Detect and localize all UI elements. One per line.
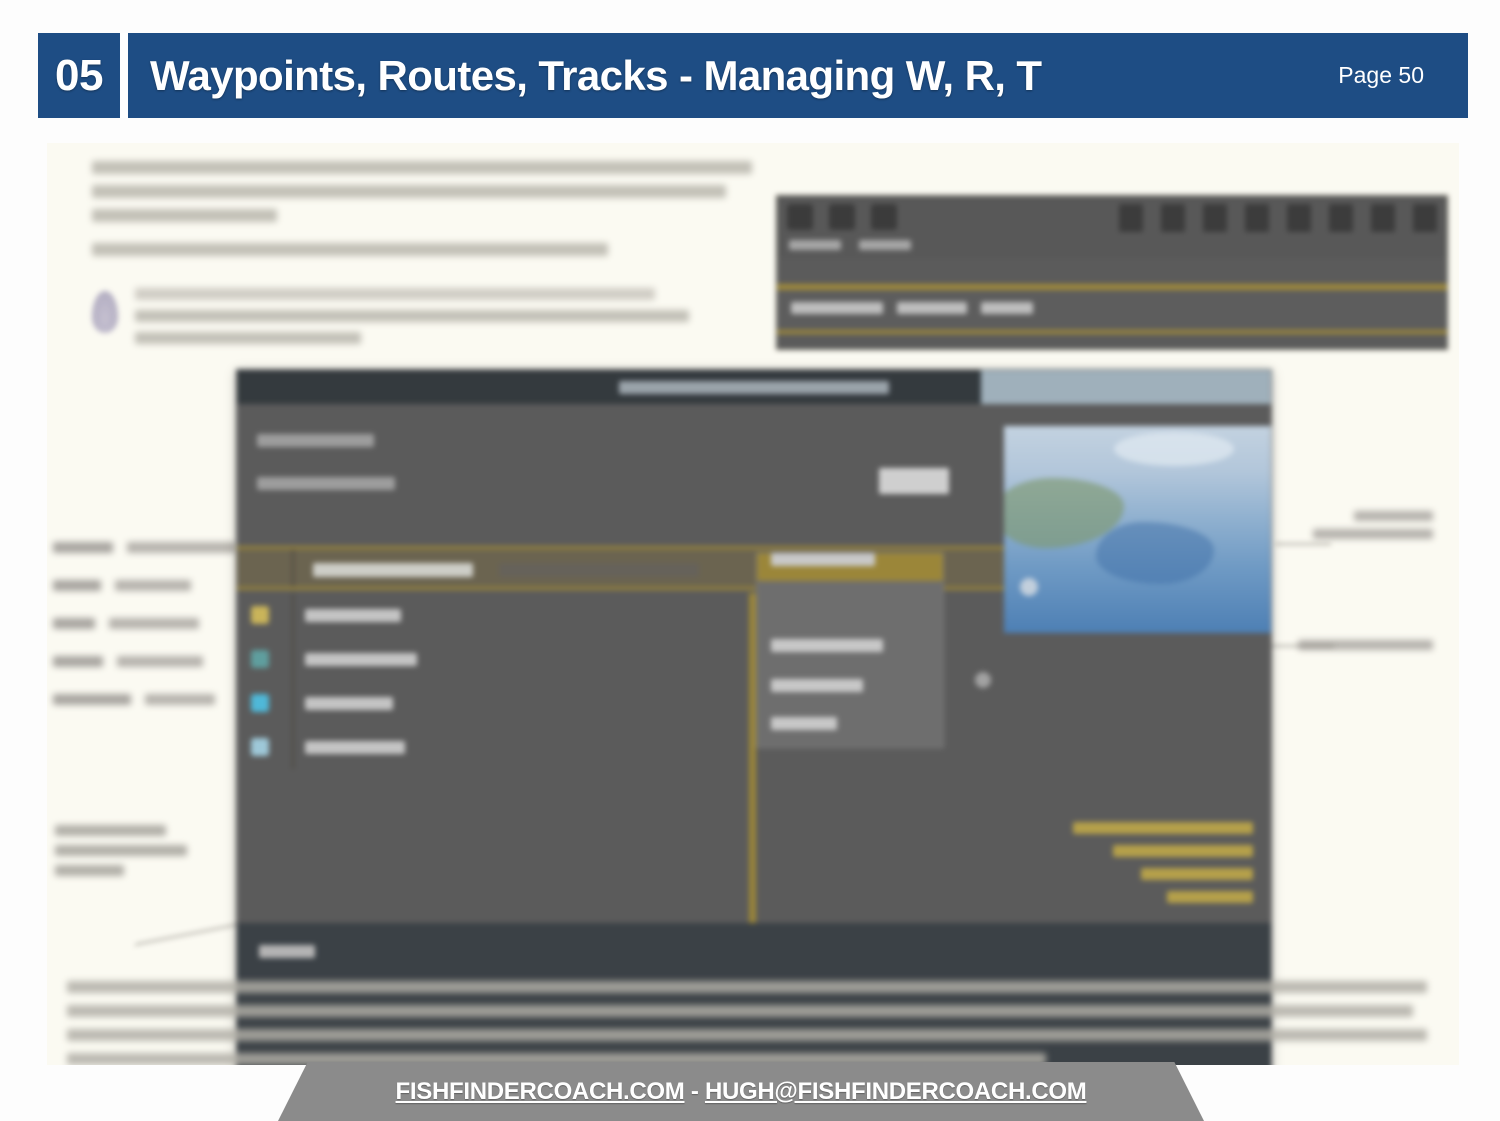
- header-divider: [120, 33, 128, 118]
- slide-header: 05 Waypoints, Routes, Tracks - Managing …: [38, 33, 1468, 118]
- page-title: Waypoints, Routes, Tracks - Managing W, …: [150, 52, 1042, 100]
- back-icon: [829, 204, 855, 230]
- map-haze: [1114, 432, 1234, 466]
- footer-separator: -: [685, 1078, 705, 1105]
- chartplotter-toolbar-screenshot: [776, 195, 1448, 350]
- home-icon: [871, 204, 897, 230]
- waypoint-symbol-icon: [251, 738, 269, 756]
- selected-row-detail: [499, 563, 699, 577]
- page-number-label: Page 50: [1338, 62, 1424, 89]
- list-item-label: [305, 741, 405, 754]
- secondary-paragraph: [92, 243, 692, 265]
- waypoint-symbol-icon: [251, 606, 269, 624]
- toolbar-row-text-one: [791, 302, 883, 314]
- dialog-lower-label: [259, 945, 315, 958]
- toolbar-right-icons: [1119, 204, 1437, 232]
- context-menu[interactable]: [756, 552, 944, 748]
- dialog-body: [237, 404, 1271, 1065]
- list-item[interactable]: [237, 593, 751, 637]
- chart-icon: [1245, 204, 1269, 232]
- footer-site-link[interactable]: FISHFINDERCOACH.COM: [396, 1078, 685, 1105]
- vertical-scrollbar[interactable]: [749, 593, 756, 923]
- info-icon: [1371, 204, 1395, 232]
- list-item[interactable]: [237, 681, 751, 725]
- footer-email-link[interactable]: HUGH@FISHFINDERCOACH.COM: [705, 1078, 1087, 1105]
- slide-page: 05 Waypoints, Routes, Tracks - Managing …: [0, 0, 1500, 1121]
- menu-item[interactable]: [771, 717, 837, 730]
- dialog-action-button[interactable]: [879, 468, 949, 494]
- settings-icon: [1329, 204, 1353, 232]
- route-icon: [1161, 204, 1185, 232]
- map-waypoint-marker-icon: [1020, 578, 1038, 596]
- waypoint-list[interactable]: [237, 593, 751, 769]
- header-title-bar: Waypoints, Routes, Tracks - Managing W, …: [128, 33, 1468, 118]
- toolbar-row-text-two: [897, 302, 967, 314]
- list-item-label: [305, 697, 393, 710]
- map-depth-contour: [1096, 522, 1214, 584]
- right-annotation-top: [1313, 511, 1433, 547]
- right-annotation-bottom-leader: [1262, 645, 1334, 647]
- track-icon: [1203, 204, 1227, 232]
- bottom-paragraph: [67, 981, 1427, 1065]
- intro-paragraph: [92, 161, 752, 233]
- toolbar-sub-labels: [789, 240, 911, 250]
- list-item-label: [305, 609, 401, 622]
- toolbar-row-text-three: [981, 302, 1033, 314]
- chart-map-preview[interactable]: [1004, 426, 1272, 633]
- menu-item[interactable]: [771, 553, 875, 566]
- right-annotation-bottom: [1298, 640, 1433, 659]
- list-item-label: [305, 653, 417, 666]
- menu-item[interactable]: [771, 679, 863, 692]
- selected-row-name: [313, 563, 473, 577]
- toolbar-highlighted-row: [777, 290, 1447, 334]
- tip-note: [135, 288, 700, 354]
- waypoint-icon: [1119, 204, 1143, 232]
- close-icon: [1413, 204, 1437, 232]
- waypoints-routes-tracks-dialog[interactable]: [236, 369, 1272, 1065]
- content-sheet: [47, 143, 1459, 1065]
- section-number-badge: 05: [38, 33, 120, 118]
- list-item[interactable]: [237, 725, 751, 769]
- toolbar-label-two: [859, 240, 911, 250]
- row-column-divider: [292, 549, 294, 587]
- footer-contact-text: FISHFINDERCOACH.COM - HUGH@FISHFINDERCOA…: [396, 1078, 1087, 1106]
- menu-icon: [787, 204, 813, 230]
- right-annotation-top-leader: [1275, 543, 1331, 545]
- dialog-title-right-panel: [981, 370, 1271, 404]
- dialog-title-text: [619, 381, 889, 394]
- toolbar-left-icons: [787, 204, 897, 230]
- menu-item[interactable]: [771, 639, 883, 652]
- toolbar-top-strip: [777, 196, 1447, 258]
- toolbar-label-one: [789, 240, 841, 250]
- droplet-icon: [92, 291, 118, 333]
- dialog-title-bar: [237, 370, 1271, 404]
- waypoint-symbol-icon: [251, 694, 269, 712]
- waypoint-symbol-icon: [251, 650, 269, 668]
- dialog-field-labels: [257, 434, 407, 520]
- dialog-annotation-overlay: [1073, 822, 1253, 914]
- footer-banner: FISHFINDERCOACH.COM - HUGH@FISHFINDERCOA…: [278, 1062, 1204, 1121]
- sonar-icon: [1287, 204, 1311, 232]
- map-cursor-icon: [975, 672, 991, 688]
- list-item[interactable]: [237, 637, 751, 681]
